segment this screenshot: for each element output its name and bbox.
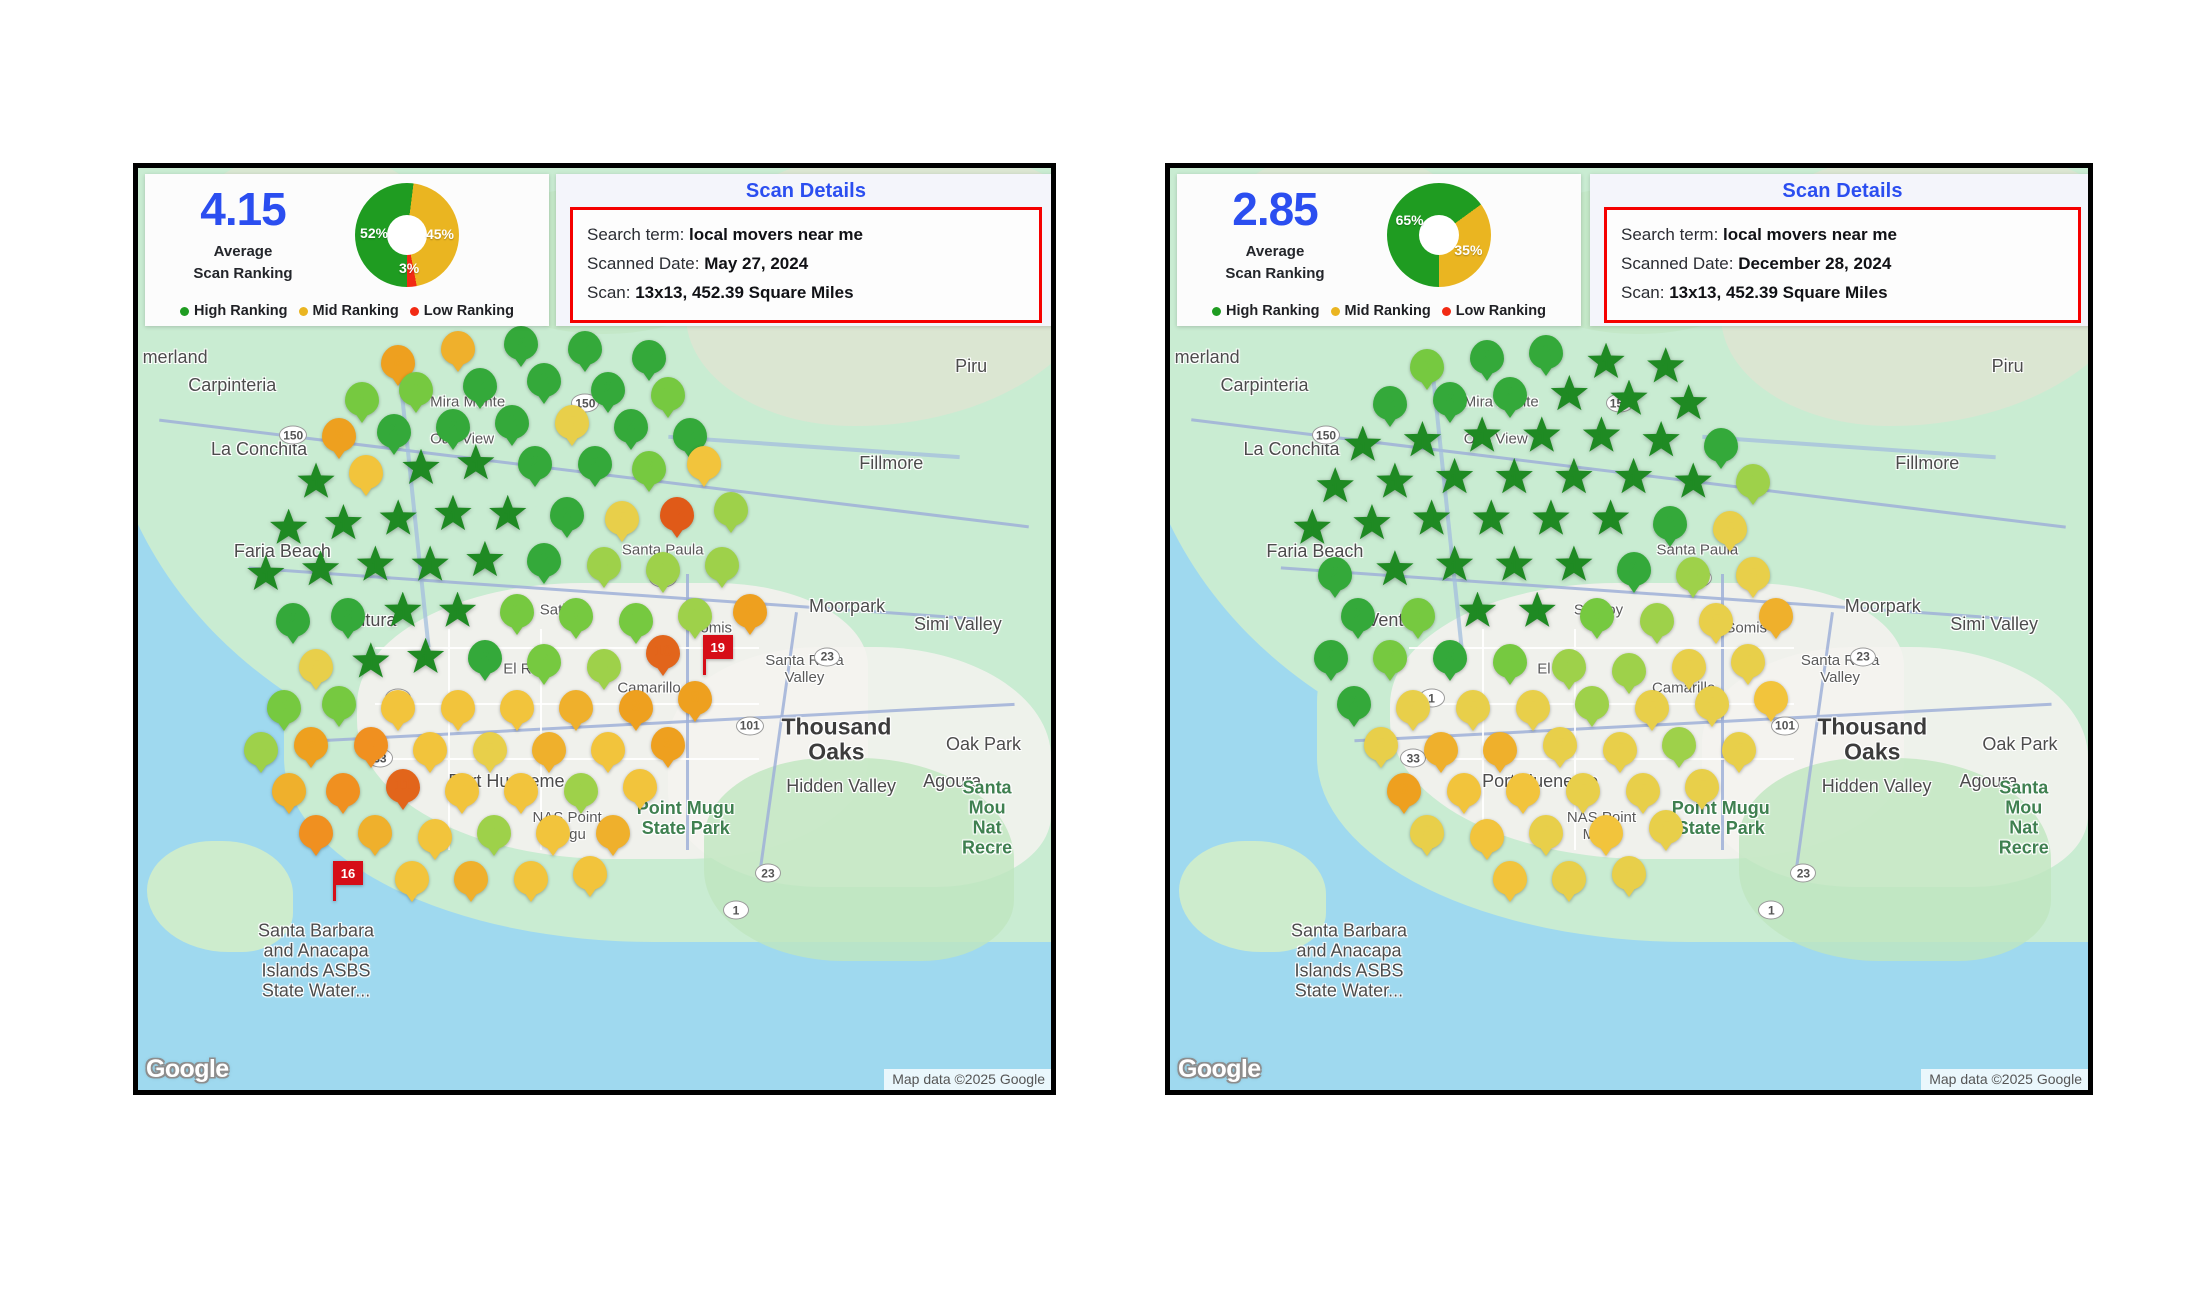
rank-value: 3 xyxy=(663,377,672,411)
rank-pin-marker[interactable]: 8 xyxy=(619,690,653,724)
legend-item-low-ranking: Low Ranking xyxy=(1442,303,1546,319)
rank-star-marker[interactable]: 1 xyxy=(1316,467,1354,505)
rank-value: 2 xyxy=(289,603,298,637)
rank-star-marker[interactable]: 1 xyxy=(1495,545,1533,583)
rank-value: 2 xyxy=(476,368,485,402)
rank-star-marker[interactable]: 1 xyxy=(324,504,362,542)
average-label: Average Scan Ranking xyxy=(1225,241,1324,285)
rank-pin-marker[interactable]: 4 xyxy=(587,649,621,683)
rank-pin-marker[interactable]: 4 xyxy=(1552,649,1586,683)
rank-pin-marker[interactable]: 6 xyxy=(1589,815,1623,849)
rank-pin-marker[interactable]: 5 xyxy=(555,405,589,439)
rank-value: 4 xyxy=(1652,603,1661,637)
rank-pin-marker[interactable]: 7 xyxy=(559,690,593,724)
rank-pin-marker[interactable]: 2 xyxy=(632,340,666,374)
rank-pin-marker[interactable]: 2 xyxy=(1653,506,1687,540)
rank-value: 1 xyxy=(1427,499,1435,543)
rank-value: 11 xyxy=(394,769,411,803)
rank-value: 2 xyxy=(480,640,489,674)
rank-pin-marker[interactable]: 6 xyxy=(1754,681,1788,715)
scanned-date-label: Scanned Date: xyxy=(587,254,699,273)
legend-item-mid-ranking: Mid Ranking xyxy=(1331,303,1431,319)
rank-value: 6 xyxy=(394,690,403,724)
rank-pin-marker[interactable]: 2 xyxy=(518,446,552,480)
rank-value: 4 xyxy=(690,598,699,632)
rank-pin-marker[interactable]: 5 xyxy=(1722,732,1756,766)
rank-pin-marker[interactable]: 3 xyxy=(559,598,593,632)
rank-star-marker[interactable]: 1 xyxy=(1376,550,1414,588)
scan-details-panel: Scan Details Search term: local movers n… xyxy=(556,174,1056,326)
rank-pin-marker[interactable]: 4 xyxy=(477,815,511,849)
rank-value: 1 xyxy=(1684,384,1692,428)
rank-pin-marker[interactable]: 6 xyxy=(349,455,383,489)
rank-pin-marker[interactable]: 6 xyxy=(1447,773,1481,807)
rank-pin-marker[interactable]: 5 xyxy=(1543,727,1577,761)
map-highway-shield-icon: 23 xyxy=(814,647,840,666)
rank-pin-marker[interactable]: 7 xyxy=(596,815,630,849)
rank-pin-marker[interactable]: 3 xyxy=(651,377,685,411)
rank-pin-marker[interactable]: 7 xyxy=(358,815,392,849)
rank-pin-marker[interactable]: 2 xyxy=(436,409,470,443)
rank-value: 3 xyxy=(1592,598,1601,632)
rank-value: 6 xyxy=(517,773,526,807)
rank-pin-marker[interactable]: 9 xyxy=(354,727,388,761)
map-street xyxy=(1482,629,1484,850)
rank-pin-marker[interactable]: 2 xyxy=(1470,340,1504,374)
rank-value: 1 xyxy=(367,642,375,686)
google-logo: Google xyxy=(1178,1055,1261,1084)
rank-pin-marker[interactable]: 6 xyxy=(413,732,447,766)
rank-pin-marker[interactable]: 3 xyxy=(399,372,433,406)
rank-value: 1 xyxy=(1570,545,1578,589)
rank-star-marker[interactable]: 1 xyxy=(384,592,422,630)
rank-star-marker[interactable]: 1 xyxy=(1344,426,1382,464)
rank-value: 1 xyxy=(1510,458,1518,502)
rank-pin-marker[interactable]: 4 xyxy=(646,552,680,586)
rank-value: 3 xyxy=(512,594,521,628)
rank-value: 6 xyxy=(1602,815,1611,849)
rank-value: 1 xyxy=(399,592,407,636)
rank-pin-marker[interactable]: 8 xyxy=(651,727,685,761)
average-label: Average Scan Ranking xyxy=(193,241,292,285)
donut-hole xyxy=(1419,215,1459,255)
rank-pin-marker[interactable]: 8 xyxy=(322,418,356,452)
rank-pin-marker[interactable]: 5 xyxy=(1699,603,1733,637)
ranking-legend: High RankingMid RankingLow Ranking xyxy=(145,303,549,326)
rank-value: 6 xyxy=(407,861,416,895)
rank-pin-marker[interactable]: 2 xyxy=(527,543,561,577)
rank-star-marker[interactable]: 1 xyxy=(1523,416,1561,454)
rank-star-marker[interactable]: 1 xyxy=(1592,499,1630,537)
rank-value: 1 xyxy=(284,509,292,553)
search-term-value: local movers near me xyxy=(689,225,863,244)
rank-pin-marker[interactable]: 3 xyxy=(267,690,301,724)
rank-value: 1 xyxy=(1625,380,1633,424)
rank-star-marker[interactable]: 1 xyxy=(379,499,417,537)
rank-pin-marker[interactable]: 2 xyxy=(276,603,310,637)
rank-pin-marker[interactable]: 4 xyxy=(705,547,739,581)
rank-pin-marker[interactable]: 2 xyxy=(1373,386,1407,420)
rank-star-marker[interactable]: 1 xyxy=(1587,343,1625,381)
rank-pin-marker[interactable]: 5 xyxy=(1364,727,1398,761)
rank-pin-marker[interactable]: 2 xyxy=(1493,377,1527,411)
rank-pin-marker[interactable]: 6 xyxy=(573,856,607,890)
rank-star-marker[interactable]: 1 xyxy=(1670,384,1708,422)
rank-pin-marker[interactable]: 2 xyxy=(1617,552,1651,586)
rank-star-marker[interactable]: 1 xyxy=(434,495,472,533)
rank-pin-marker[interactable]: 2 xyxy=(463,368,497,402)
rank-pin-marker[interactable]: 6 xyxy=(381,690,415,724)
rank-pin-marker[interactable]: 4 xyxy=(1676,557,1710,591)
rank-value: 3 xyxy=(1505,644,1514,678)
rank-pin-marker[interactable]: 3 xyxy=(345,382,379,416)
rank-value: 7 xyxy=(1436,732,1445,766)
legend-label: Low Ranking xyxy=(424,303,514,319)
rank-value: 3 xyxy=(1423,349,1432,383)
rank-pin-marker[interactable]: 8 xyxy=(733,594,767,628)
rank-star-marker[interactable]: 1 xyxy=(1436,458,1474,496)
rank-pin-marker[interactable]: 2 xyxy=(495,405,529,439)
rank-pin-marker[interactable]: 4 xyxy=(564,773,598,807)
average-score: 4.15 xyxy=(200,186,286,232)
rank-pin-marker[interactable]: 12 xyxy=(660,497,694,531)
rank-pin-marker[interactable]: 2 xyxy=(468,640,502,674)
rank-pin-marker[interactable]: 2 xyxy=(1704,428,1738,462)
rank-value: 1 xyxy=(1689,462,1697,506)
rank-pin-marker[interactable]: 2 xyxy=(591,372,625,406)
rank-pin-marker[interactable]: 6 xyxy=(418,819,452,853)
rank-value: 5 xyxy=(1638,773,1647,807)
rank-pin-marker[interactable]: 10 xyxy=(646,635,680,669)
rank-value: 2 xyxy=(1326,640,1335,674)
map-highway-shield-icon: 23 xyxy=(755,864,781,883)
rank-pin-marker[interactable]: 6 xyxy=(514,861,548,895)
scan-label: Scan: xyxy=(1621,283,1664,302)
rank-star-marker[interactable]: 1 xyxy=(270,509,308,547)
rank-value: 2 xyxy=(1505,377,1514,411)
rank-pin-marker[interactable]: 5 xyxy=(1552,861,1586,895)
rank-pin-marker[interactable]: 2 xyxy=(1433,640,1467,674)
rank-pin-marker[interactable]: 8 xyxy=(678,681,712,715)
rank-pin-marker[interactable]: 6 xyxy=(1493,861,1527,895)
rank-pin-marker[interactable]: 5 xyxy=(1603,732,1637,766)
rank-pin-marker[interactable]: 5 xyxy=(1516,690,1550,724)
rank-pin-marker[interactable]: 2 xyxy=(1318,557,1352,591)
rank-pin-marker[interactable]: 3 xyxy=(500,594,534,628)
rank-star-marker[interactable]: 1 xyxy=(1532,499,1570,537)
rank-pin-marker[interactable]: 4 xyxy=(1662,727,1696,761)
rank-value: 5 xyxy=(1698,769,1707,803)
rank-star-marker[interactable]: 1 xyxy=(247,555,285,593)
rank-pin-marker[interactable]: 4 xyxy=(714,492,748,526)
rank-value: 2 xyxy=(531,446,540,480)
rank-star-marker[interactable]: 1 xyxy=(1353,504,1391,542)
rank-star-marker[interactable]: 1 xyxy=(1472,499,1510,537)
rank-star-marker[interactable]: 1 xyxy=(1403,421,1441,459)
scan-panel-december-2024[interactable]: Wheeler Springs OjalaSespe Condor Sanctu… xyxy=(1165,163,2093,1095)
rank-pin-marker[interactable]: 5 xyxy=(1736,557,1770,591)
rank-star-marker[interactable]: 1 xyxy=(1413,499,1451,537)
rank-value: 1 xyxy=(1606,499,1614,543)
rank-star-marker[interactable]: 1 xyxy=(1436,545,1474,583)
scan-size-line: Scan: 13x13, 452.39 Square Miles xyxy=(1621,278,2064,307)
rank-pin-marker[interactable]: 2 xyxy=(331,598,365,632)
rank-pin-marker[interactable]: 5 xyxy=(473,732,507,766)
rank-pin-marker[interactable]: 5 xyxy=(1566,773,1600,807)
map-highway-shield-icon: 33 xyxy=(1400,749,1426,768)
rank-pin-marker[interactable]: 2 xyxy=(1314,640,1348,674)
legend-item-mid-ranking: Mid Ranking xyxy=(299,303,399,319)
rank-value: 2 xyxy=(1716,428,1725,462)
rank-pin-marker[interactable]: 5 xyxy=(1672,649,1706,683)
scan-details-title: Scan Details xyxy=(1590,174,2093,207)
legend-item-low-ranking: Low Ranking xyxy=(410,303,514,319)
rank-value: 7 xyxy=(284,773,293,807)
rank-pin-marker[interactable]: 5 xyxy=(1410,815,1444,849)
rank-pin-marker[interactable]: 6 xyxy=(504,773,538,807)
rank-value: 5 xyxy=(312,649,321,683)
rank-pin-marker[interactable]: 7 xyxy=(454,861,488,895)
rank-flag-marker[interactable]: 19 xyxy=(703,635,733,659)
rank-value: 8 xyxy=(690,681,699,715)
rank-pin-marker[interactable]: 2 xyxy=(1337,686,1371,720)
donut-mid-pct-label: 45% xyxy=(426,226,454,242)
rank-value: 1 xyxy=(1533,592,1541,636)
rank-star-marker[interactable]: 1 xyxy=(1550,375,1588,413)
rank-star-marker[interactable]: 1 xyxy=(1642,421,1680,459)
rank-value: 7 xyxy=(453,331,462,365)
rank-pin-marker[interactable]: 5 xyxy=(1396,690,1430,724)
rank-value: 1 xyxy=(1478,416,1486,460)
scan-stats-card: 4.15 Average Scan Ranking 52% 45% 3% Hig… xyxy=(145,174,549,326)
ranking-donut-chart: 52% 45% 3% xyxy=(355,183,459,287)
rank-pin-marker[interactable]: 5 xyxy=(1713,511,1747,545)
rank-value: 1 xyxy=(1538,416,1546,460)
rank-star-marker[interactable]: 1 xyxy=(1555,458,1593,496)
rank-value: 7 xyxy=(371,815,380,849)
scanned-date-value: December 28, 2024 xyxy=(1738,254,1891,273)
rank-pin-marker[interactable]: 6 xyxy=(1470,819,1504,853)
rank-pin-marker[interactable]: 4 xyxy=(678,598,712,632)
rank-pin-marker[interactable]: 3 xyxy=(1401,598,1435,632)
rank-value: 6 xyxy=(526,861,535,895)
rank-pin-marker[interactable]: 5 xyxy=(1695,686,1729,720)
rank-pin-marker[interactable]: 6 xyxy=(445,773,479,807)
rank-star-marker[interactable]: 1 xyxy=(1647,347,1685,385)
scan-panel-may-2024[interactable]: Wheeler Springs OjalaSespe Condor Sanctu… xyxy=(133,163,1056,1095)
stats-row: 4.15 Average Scan Ranking 52% 45% 3% xyxy=(145,174,549,287)
rank-pin-marker[interactable]: 5 xyxy=(1456,690,1490,724)
rank-value: 5 xyxy=(1579,773,1588,807)
rank-value: 3 xyxy=(1413,598,1422,632)
rank-pin-marker[interactable]: 7 xyxy=(1424,732,1458,766)
rank-value: 5 xyxy=(567,405,576,439)
rank-value: 1 xyxy=(1418,421,1426,465)
average-label-line2: Scan Ranking xyxy=(1225,263,1324,285)
rank-pin-marker[interactable]: 5 xyxy=(299,649,333,683)
rank-star-marker[interactable]: 1 xyxy=(402,449,440,487)
rank-star-marker[interactable]: 1 xyxy=(407,638,445,676)
rank-pin-marker[interactable]: 2 xyxy=(527,363,561,397)
map-street xyxy=(448,629,450,850)
rank-pin-marker[interactable]: 3 xyxy=(1373,640,1407,674)
rank-pin-marker[interactable]: 3 xyxy=(527,644,561,678)
legend-label: High Ranking xyxy=(194,303,287,319)
average-ranking-block: 2.85 Average Scan Ranking xyxy=(1177,186,1373,285)
rank-value: 2 xyxy=(1629,552,1638,586)
rank-pin-marker[interactable]: 2 xyxy=(614,409,648,443)
rank-pin-marker[interactable]: 3 xyxy=(322,686,356,720)
rank-value: 12 xyxy=(668,497,686,531)
map-highway-shield-icon: 23 xyxy=(1850,647,1876,666)
rank-star-marker[interactable]: 1 xyxy=(356,545,394,583)
rank-pin-marker[interactable]: 4 xyxy=(587,547,621,581)
rank-value: 4 xyxy=(490,815,499,849)
rank-star-marker[interactable]: 1 xyxy=(1376,462,1414,500)
rank-value: 4 xyxy=(1565,649,1574,683)
rank-pin-marker[interactable]: 6 xyxy=(687,446,721,480)
rank-star-marker[interactable]: 1 xyxy=(352,642,390,680)
rank-pin-marker[interactable]: 3 xyxy=(1580,598,1614,632)
rank-pin-marker[interactable]: 7 xyxy=(532,732,566,766)
rank-pin-marker[interactable]: 9 xyxy=(326,773,360,807)
rank-pin-marker[interactable]: 4 xyxy=(1575,686,1609,720)
legend-dot-icon xyxy=(1442,307,1451,316)
rank-star-marker[interactable]: 1 xyxy=(1293,509,1331,547)
rank-star-marker[interactable]: 1 xyxy=(297,462,335,500)
rank-value: 5 xyxy=(1748,557,1757,591)
rank-value: 5 xyxy=(1744,644,1753,678)
rank-pin-marker[interactable]: 6 xyxy=(500,690,534,724)
legend-dot-icon xyxy=(299,307,308,316)
rank-value: 8 xyxy=(631,690,640,724)
rank-pin-marker[interactable]: 5 xyxy=(605,501,639,535)
rank-value: 6 xyxy=(585,856,594,890)
rank-star-marker[interactable]: 1 xyxy=(457,444,495,482)
rank-star-marker[interactable]: 1 xyxy=(1582,416,1620,454)
rank-value: 2 xyxy=(563,497,572,531)
rank-star-marker[interactable]: 1 xyxy=(1555,545,1593,583)
rank-pin-marker[interactable]: 6 xyxy=(536,815,570,849)
rank-value: 4 xyxy=(1675,727,1684,761)
rank-value: 3 xyxy=(540,644,549,678)
rank-pin-marker[interactable]: 2 xyxy=(1433,382,1467,416)
rank-pin-marker[interactable]: 5 xyxy=(1685,769,1719,803)
rank-star-marker[interactable]: 1 xyxy=(466,541,504,579)
rank-pin-marker[interactable]: 4 xyxy=(1640,603,1674,637)
rank-value: 1 xyxy=(504,495,512,539)
rank-star-marker[interactable]: 1 xyxy=(1463,416,1501,454)
donut-high-pct-label: 65% xyxy=(1396,212,1424,228)
rank-value: 4 xyxy=(1625,653,1634,687)
rank-value: 6 xyxy=(362,455,371,489)
rank-pin-marker[interactable]: 6 xyxy=(441,690,475,724)
rank-value: 2 xyxy=(540,543,549,577)
scan-label: Scan: xyxy=(587,283,630,302)
rank-value: 9 xyxy=(312,815,321,849)
rank-pin-marker[interactable]: 3 xyxy=(1410,349,1444,383)
rank-pin-marker[interactable]: 2 xyxy=(550,497,584,531)
rank-pin-marker[interactable]: 6 xyxy=(395,861,429,895)
rank-star-marker[interactable]: 1 xyxy=(1610,380,1648,418)
scan-stats-card: 2.85 Average Scan Ranking 65% 35% High R… xyxy=(1177,174,1581,326)
rank-value: 4 xyxy=(1588,686,1597,720)
scan-value: 13x13, 452.39 Square Miles xyxy=(1669,283,1887,302)
ranking-legend: High RankingMid RankingLow Ranking xyxy=(1177,303,1581,326)
rank-pin-marker[interactable]: 5 xyxy=(1649,810,1683,844)
rank-pin-marker[interactable]: 7 xyxy=(441,331,475,365)
rank-value: 1 xyxy=(453,592,461,636)
rank-pin-marker[interactable]: 2 xyxy=(578,446,612,480)
scanned-date-line: Scanned Date: December 28, 2024 xyxy=(1621,249,2064,278)
rank-pin-marker[interactable]: 5 xyxy=(1635,690,1669,724)
rank-star-marker[interactable]: 1 xyxy=(1459,592,1497,630)
legend-label: High Ranking xyxy=(1226,303,1319,319)
rank-pin-marker[interactable]: 4 xyxy=(1736,464,1770,498)
rank-star-marker[interactable]: 1 xyxy=(1615,458,1653,496)
rank-pin-marker[interactable]: 5 xyxy=(1529,815,1563,849)
rank-star-marker[interactable]: 1 xyxy=(1518,592,1556,630)
rank-pin-marker[interactable]: 4 xyxy=(244,732,278,766)
rank-star-marker[interactable]: 1 xyxy=(411,545,449,583)
rank-star-marker[interactable]: 1 xyxy=(302,550,340,588)
rank-pin-marker[interactable]: 6 xyxy=(1506,773,1540,807)
rank-pin-marker[interactable]: 11 xyxy=(386,769,420,803)
rank-pin-marker[interactable]: 2 xyxy=(568,331,602,365)
rank-star-marker[interactable]: 1 xyxy=(489,495,527,533)
rank-pin-marker[interactable]: 6 xyxy=(623,769,657,803)
rank-value: 6 xyxy=(426,732,435,766)
rank-flag-marker[interactable]: 16 xyxy=(333,861,363,885)
rank-pin-marker[interactable]: 2 xyxy=(504,326,538,360)
rank-pin-marker[interactable]: 7 xyxy=(272,773,306,807)
rank-pin-marker[interactable]: 4 xyxy=(1612,653,1646,687)
rank-pin-marker[interactable]: 8 xyxy=(1387,773,1421,807)
rank-pin-marker[interactable]: 3 xyxy=(632,451,666,485)
rank-star-marker[interactable]: 1 xyxy=(439,592,477,630)
rank-value: 6 xyxy=(1482,819,1491,853)
rank-pin-marker[interactable]: 5 xyxy=(1731,644,1765,678)
average-label-line1: Average xyxy=(1225,241,1324,263)
rank-value: 1 xyxy=(1450,458,1458,502)
rank-value: 2 xyxy=(1542,335,1551,369)
rank-pin-marker[interactable]: 5 xyxy=(1626,773,1660,807)
rank-pin-marker[interactable]: 9 xyxy=(299,815,333,849)
rank-value: 1 xyxy=(1565,375,1573,419)
rank-pin-marker[interactable]: 7 xyxy=(1759,598,1793,632)
rank-pin-marker[interactable]: 7 xyxy=(1483,732,1517,766)
rank-star-marker[interactable]: 1 xyxy=(1495,458,1533,496)
rank-pin-marker[interactable]: 3 xyxy=(619,603,653,637)
map-highway-shield-icon: 101 xyxy=(736,716,764,735)
rank-pin-marker[interactable]: 2 xyxy=(1529,335,1563,369)
rank-pin-marker[interactable]: 3 xyxy=(1493,644,1527,678)
rank-value: 4 xyxy=(718,547,727,581)
rank-pin-marker[interactable]: 8 xyxy=(294,727,328,761)
rank-pin-marker[interactable]: 6 xyxy=(591,732,625,766)
rank-pin-marker[interactable]: 2 xyxy=(1341,598,1375,632)
rank-pin-marker[interactable]: 2 xyxy=(377,414,411,448)
rank-value: 8 xyxy=(663,727,672,761)
rank-value: 5 xyxy=(1684,649,1693,683)
rank-value: 1 xyxy=(1308,509,1316,553)
rank-value: 3 xyxy=(645,451,654,485)
rank-value: 7 xyxy=(1771,598,1780,632)
rank-value: 2 xyxy=(590,446,599,480)
rank-star-marker[interactable]: 1 xyxy=(1674,462,1712,500)
rank-value: 5 xyxy=(1528,690,1537,724)
rank-pin-marker[interactable]: 5 xyxy=(1612,856,1646,890)
